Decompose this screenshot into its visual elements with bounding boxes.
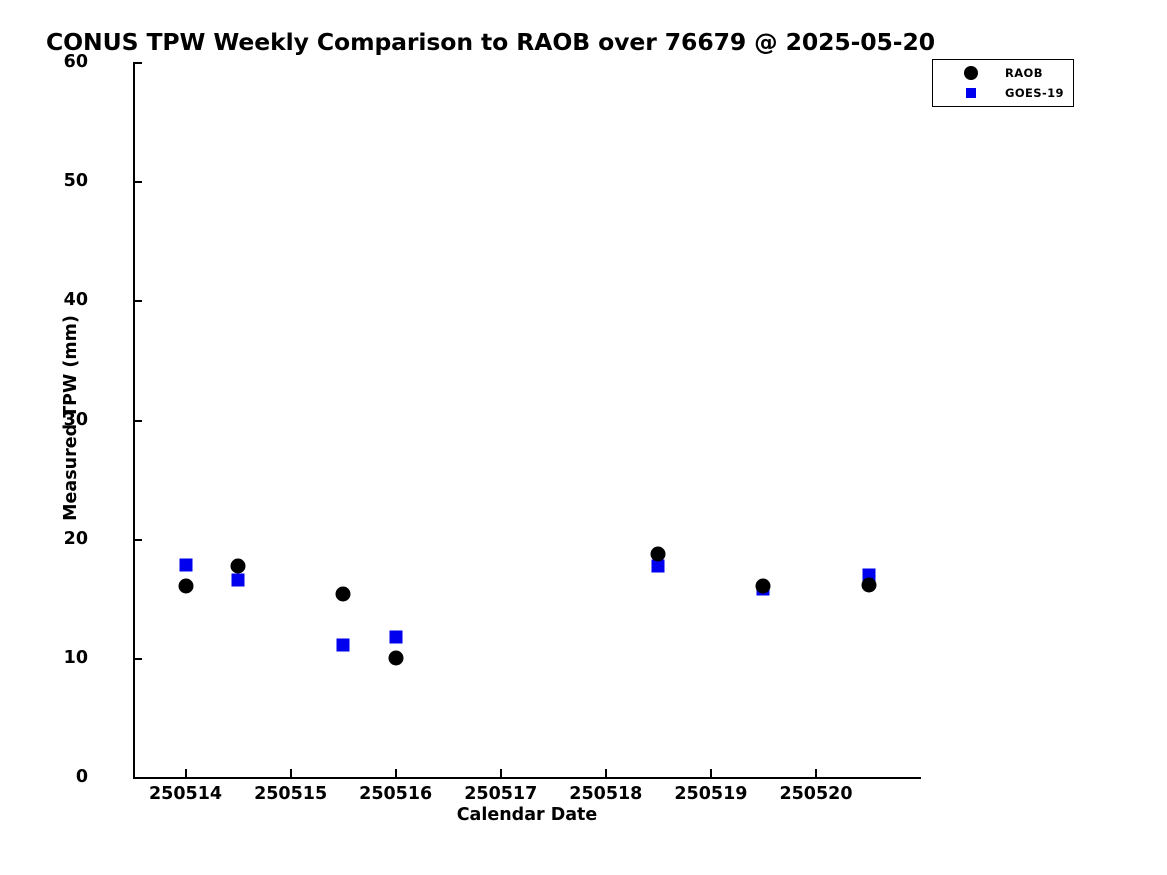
data-point-raob bbox=[231, 558, 246, 573]
chart-figure: CONUS TPW Weekly Comparison to RAOB over… bbox=[0, 0, 1167, 875]
data-point-raob bbox=[861, 577, 876, 592]
legend-circle-icon bbox=[964, 66, 978, 80]
data-point-raob bbox=[178, 579, 193, 594]
data-point-raob bbox=[756, 579, 771, 594]
y-tick-label: 60 bbox=[64, 52, 88, 72]
plot-area bbox=[133, 63, 920, 778]
data-point-goes-19 bbox=[179, 558, 192, 571]
y-tick-label: 40 bbox=[64, 290, 88, 310]
x-tick-label: 250518 bbox=[569, 784, 642, 804]
x-tick-label: 250519 bbox=[674, 784, 747, 804]
legend-label: GOES-19 bbox=[1005, 86, 1064, 100]
page-title: CONUS TPW Weekly Comparison to RAOB over… bbox=[46, 28, 935, 56]
y-tick-label: 50 bbox=[64, 171, 88, 191]
y-axis-label: Measured TPW (mm) bbox=[61, 315, 81, 521]
data-point-goes-19 bbox=[389, 631, 402, 644]
y-tick-label: 10 bbox=[64, 648, 88, 668]
x-axis-label: Calendar Date bbox=[133, 805, 921, 825]
x-tick-label: 250515 bbox=[254, 784, 327, 804]
x-tick-label: 250517 bbox=[464, 784, 537, 804]
legend-entry: RAOB bbox=[933, 63, 1073, 83]
y-tick-label: 0 bbox=[76, 767, 88, 787]
legend: RAOBGOES-19 bbox=[932, 59, 1074, 107]
data-point-goes-19 bbox=[232, 574, 245, 587]
legend-entry: GOES-19 bbox=[933, 83, 1073, 103]
legend-label: RAOB bbox=[1005, 66, 1043, 80]
data-point-raob bbox=[336, 587, 351, 602]
x-tick-label: 250514 bbox=[149, 784, 222, 804]
data-point-goes-19 bbox=[337, 638, 350, 651]
legend-square-icon bbox=[966, 88, 976, 98]
data-point-raob bbox=[388, 650, 403, 665]
x-tick-label: 250520 bbox=[779, 784, 852, 804]
x-tick-label: 250516 bbox=[359, 784, 432, 804]
data-point-raob bbox=[651, 546, 666, 561]
y-tick-label: 20 bbox=[64, 529, 88, 549]
